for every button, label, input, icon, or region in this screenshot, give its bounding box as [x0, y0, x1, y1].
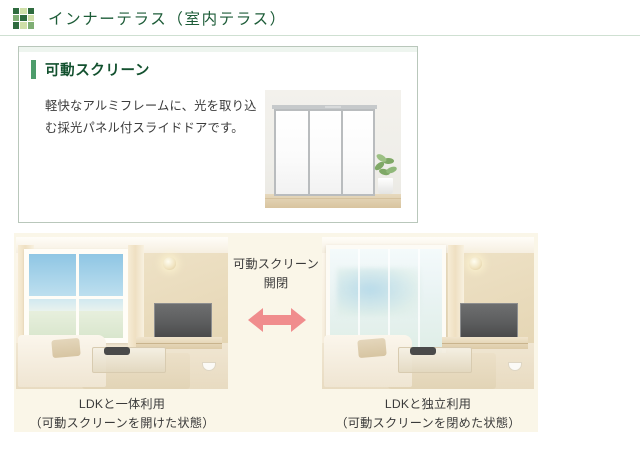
feature-card-top-stripe [19, 47, 417, 52]
screen-toggle-label-line2: 開閉 [264, 276, 289, 290]
movable-screen-product-photo [265, 90, 401, 208]
page-header: インナーテラス（室内テラス） [0, 0, 640, 36]
room-window-open [24, 249, 128, 343]
caption-open-line2: （可動スクリーンを開けた状態） [16, 414, 228, 433]
photo-plant-pot [378, 178, 393, 194]
double-arrow-horizontal-icon [248, 305, 306, 335]
television [460, 303, 518, 339]
sofa-cushion [51, 338, 80, 358]
heading-accent-bar [31, 60, 36, 79]
wall-sconce-light [163, 257, 176, 270]
feature-card: 可動スクリーン 軽快なアルミフレームに、光を取り込む採光パネル付スライドドアです… [18, 46, 418, 223]
screen-panel-divider [418, 249, 420, 353]
photo-screen-mullion [308, 111, 310, 194]
screen-diffused-light [337, 268, 420, 316]
caption-closed-line2: （可動スクリーンを閉めた状態） [322, 414, 534, 433]
caption-screen-open: LDKと一体利用 （可動スクリーンを開けた状態） [16, 395, 228, 433]
feature-heading: 可動スクリーン [31, 59, 150, 80]
table-tray [410, 347, 436, 355]
caption-closed-line1: LDKと独立利用 [385, 397, 471, 411]
comparison-panel: 可動スクリーン 開閉 LDKと一体利用 （可動スクリーンを開けた状態） [14, 233, 538, 432]
caption-open-line1: LDKと一体利用 [79, 397, 165, 411]
photo-screen-mullion [341, 111, 343, 194]
photo-plant-leaves [373, 154, 397, 180]
living-room-screen-closed-photo [322, 237, 534, 389]
caption-screen-closed: LDKと独立利用 （可動スクリーンを閉めた状態） [322, 395, 534, 433]
screen-toggle-label-line1: 可動スクリーン [233, 257, 319, 271]
page-title: インナーテラス（室内テラス） [48, 7, 287, 29]
television [154, 303, 212, 339]
table-tray [104, 347, 130, 355]
feature-description-text: 軽快なアルミフレームに、光を取り込む採光パネル付スライドドアです。 [45, 95, 257, 139]
wall-sconce-light [469, 257, 482, 270]
grid-squares-icon [13, 8, 34, 29]
header-divider [0, 35, 640, 36]
photo-wood-floor [265, 194, 401, 208]
living-room-screen-open-photo [16, 237, 228, 389]
photo-screen-door-frame [274, 109, 375, 196]
window-sash [29, 296, 123, 299]
screen-toggle-label: 可動スクリーン 開閉 [228, 255, 324, 293]
room-curtain [128, 245, 144, 349]
photo-screen-handle [325, 106, 341, 108]
feature-heading-text: 可動スクリーン [45, 59, 150, 80]
sofa-cushion [357, 338, 386, 358]
